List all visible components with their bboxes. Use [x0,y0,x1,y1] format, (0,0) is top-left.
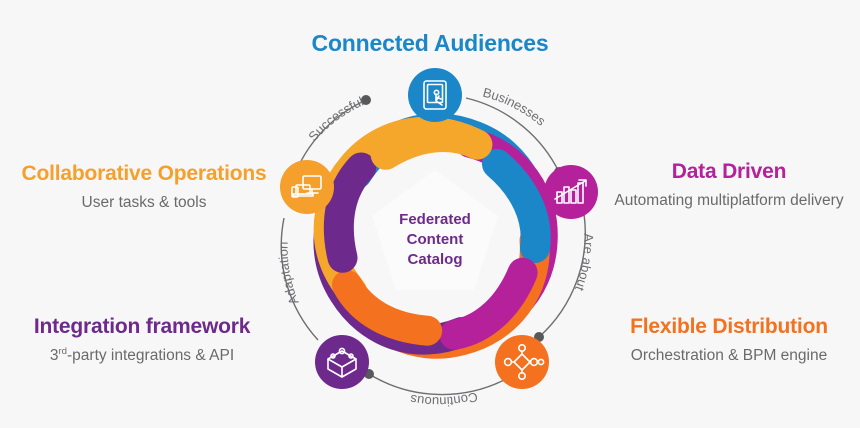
icon-badge-circle [280,160,334,214]
icon-badge-circle [315,335,369,389]
node-icon-collaborative-operations[interactable] [280,160,334,214]
node-icon-data-driven[interactable] [544,165,598,219]
node-icon-flexible-distribution[interactable] [495,335,549,389]
node-icon-integration-framework[interactable] [315,335,369,389]
center-wordmark: Federated Content Catalog [399,211,471,268]
center-line-1: Federated [399,211,471,228]
arc-label-adaptation: Adaptation [276,241,302,306]
center-line-2: Content [407,231,464,248]
diagram-canvas: Connected Audiences Collaborative Operat… [0,0,860,428]
arc-bottom [369,374,508,395]
knot-inner-pentagon [372,170,498,290]
arc-label-successful: Successful [305,94,365,144]
icon-badge-circle [495,335,549,389]
arc-label-are-about: Are about [572,233,596,293]
cycle-diagram: Successful Businesses Are about Continuo… [0,0,860,428]
node-icon-connected-audiences[interactable] [408,68,462,122]
center-line-3: Catalog [407,251,462,268]
